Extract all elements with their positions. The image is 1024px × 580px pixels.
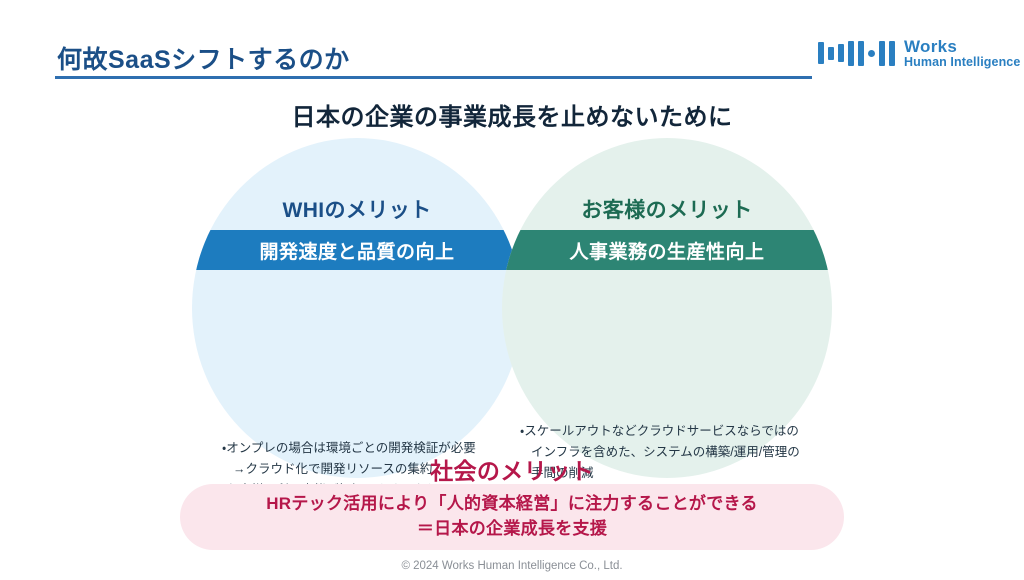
title-underline-divider xyxy=(55,76,812,79)
list-item: ・スケールアウトなどクラウドサービスならではの xyxy=(520,421,825,442)
logo-line-1: Works xyxy=(904,38,1020,56)
society-benefit-box: HRテック活用により「人的資本経営」に注力することができる ＝日本の企業成長を支… xyxy=(180,484,844,550)
venn-left-heading: WHIのメリット xyxy=(192,194,522,224)
venn-right-banner: 人事業務の生産性向上 xyxy=(502,230,832,270)
logo-line-2: Human Intelligence xyxy=(904,56,1020,69)
society-benefit-line-2: ＝日本の企業成長を支援 xyxy=(417,517,607,542)
venn-diagram: WHIのメリット 開発速度と品質の向上 お客様のメリット 人事業務の生産性向上 … xyxy=(0,138,1024,478)
page-title: 何故SaaSシフトするのか xyxy=(57,40,350,76)
society-benefit-heading: 社会のメリット xyxy=(0,452,1024,486)
logo-wordmark: Works Human Intelligence xyxy=(904,38,1020,69)
slide-root: 何故SaaSシフトするのか Works Human Intelligence 日… xyxy=(0,0,1024,580)
logo-bars-icon xyxy=(818,39,895,67)
venn-left-banner: 開発速度と品質の向上 xyxy=(192,230,522,270)
slide-subtitle: 日本の企業の事業成長を止めないために xyxy=(0,97,1024,132)
venn-right-heading: お客様のメリット xyxy=(502,194,832,224)
society-benefit-line-1: HRテック活用により「人的資本経営」に注力することができる xyxy=(266,492,758,517)
venn-circle-whi: WHIのメリット 開発速度と品質の向上 xyxy=(192,138,522,478)
copyright-footer: © 2024 Works Human Intelligence Co., Ltd… xyxy=(0,560,1024,572)
works-human-intelligence-logo: Works Human Intelligence xyxy=(818,38,1020,69)
